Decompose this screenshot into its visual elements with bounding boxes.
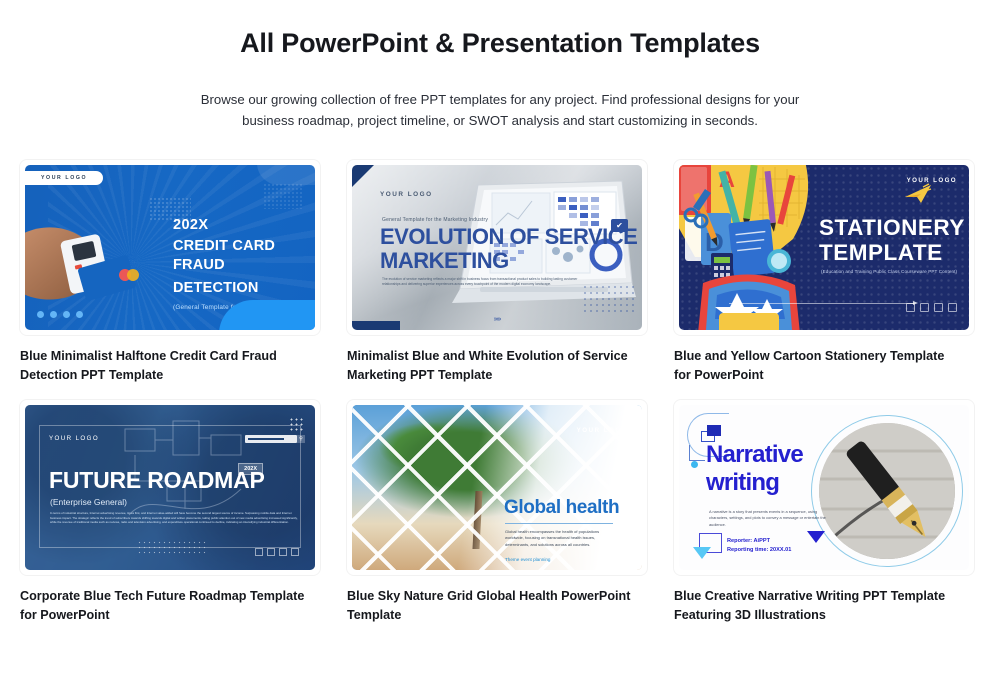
slide-heading-line1: EVOLUTION OF SERVICE [380, 225, 637, 249]
dot-indicator [63, 311, 70, 318]
stationery-template-slide: A D [679, 165, 969, 330]
slide-body-text: Global health encompasses the health of … [505, 529, 609, 548]
slide-text-block: 202X CREDIT CARD FRAUD DETECTION (Genera… [173, 217, 315, 311]
dot-indicator [76, 311, 83, 318]
slide-heading: Narrative writing [706, 441, 803, 497]
slide-heading-line1: CREDIT CARD FRAUD [173, 237, 315, 275]
credit-card-fraud-slide: YOUR LOGO [25, 165, 315, 330]
slide-heading-line2: writing [706, 469, 803, 497]
dot-grid-bottom [137, 540, 207, 554]
square-icon [255, 548, 263, 556]
triangle-cyan-icon [693, 547, 711, 559]
slide-heading-line1: Narrative [706, 441, 803, 469]
chevron-row: ››››› [494, 316, 501, 323]
slide-dot-indicators [37, 311, 83, 318]
dot-indicator [37, 311, 44, 318]
your-logo-label: YOUR LOGO [907, 177, 957, 184]
dot-indicator [50, 311, 57, 318]
square-icon [920, 303, 929, 312]
fountain-pen-image [819, 423, 955, 559]
your-logo-label: YOUR LOGO [49, 435, 99, 442]
slide-heading: EVOLUTION OF SERVICE MARKETING [380, 225, 637, 273]
template-card-title[interactable]: Blue Creative Narrative Writing PPT Temp… [674, 587, 959, 624]
template-card[interactable]: YOUR LOGO General Template for the Marke… [347, 160, 647, 384]
template-card[interactable]: YOUR LOGO [20, 160, 320, 384]
slide-heading-line2: TEMPLATE [819, 240, 965, 265]
template-card[interactable]: A D [674, 160, 974, 384]
slide-square-icons [255, 548, 299, 556]
school-supplies-illustration: A D [679, 165, 827, 330]
your-logo-label: YOUR LOGO [380, 191, 433, 198]
square-icon [279, 548, 287, 556]
slide-heading-line2: DETECTION [173, 279, 315, 298]
angle-decoration [689, 445, 705, 461]
square-icon [934, 303, 943, 312]
slide-heading: FUTURE ROADMAP [49, 467, 265, 494]
template-card-title[interactable]: Corporate Blue Tech Future Roadmap Templ… [20, 587, 305, 624]
template-thumbnail[interactable]: YOUR LOGO General Template for the Marke… [347, 160, 647, 335]
halftone-dots-corner [263, 183, 303, 209]
future-roadmap-slide: YOUR LOGO ⚲ 202X FUTURE ROADMAP (Enterpr… [25, 405, 315, 570]
slide-square-icons [906, 303, 957, 312]
square-icon [906, 303, 915, 312]
search-icon[interactable]: ⚲ [297, 435, 305, 443]
template-card[interactable]: Narrative writing A narrative is a story… [674, 400, 974, 624]
slide-heading-line1: STATIONERY [819, 215, 965, 240]
slide-reporter-block: Reporter: AiPPT Reporting time: 20XX.01 [727, 537, 791, 555]
template-card-title[interactable]: Blue Minimalist Halftone Credit Card Fra… [20, 347, 305, 384]
hand-pos-terminal-image [25, 199, 151, 319]
dot-grid-pattern [289, 417, 305, 431]
slide-body-text: A narrative is a story that presents eve… [709, 509, 827, 528]
template-card-title[interactable]: Minimalist Blue and White Evolution of S… [347, 347, 632, 384]
slide-subtitle: (Education and Training Public Class Cou… [821, 269, 957, 274]
template-card[interactable]: YOUR LOGO Global health Global health en… [347, 400, 647, 624]
reporting-time: Reporting time: 20XX.01 [727, 546, 791, 555]
square-icon [291, 548, 299, 556]
page-title: All PowerPoint & Presentation Templates [0, 0, 1000, 59]
templates-gallery-page: All PowerPoint & Presentation Templates … [0, 0, 1000, 700]
slide-heading: Global health [504, 497, 619, 519]
template-thumbnail[interactable]: YOUR LOGO Global health Global health en… [347, 400, 647, 575]
reporter-name: Reporter: AiPPT [727, 537, 791, 546]
check-icon: ✔ [611, 219, 628, 232]
square-decoration [707, 425, 721, 436]
slide-body-text: In terms of industrial structure, Intern… [50, 511, 300, 525]
triangle-indigo-icon [807, 531, 825, 543]
template-thumbnail[interactable]: YOUR LOGO ⚲ 202X FUTURE ROADMAP (Enterpr… [20, 400, 320, 575]
slide-year: 202X [173, 217, 315, 233]
square-icon [267, 548, 275, 556]
evolution-service-marketing-slide: YOUR LOGO General Template for the Marke… [352, 165, 642, 330]
paper-plane-icon [903, 183, 933, 205]
dot-decoration [691, 461, 698, 468]
your-logo-label: YOUR LOGO [577, 427, 628, 434]
slide-body-text: The evolution of service marketing refle… [382, 277, 594, 287]
square-icon [948, 303, 957, 312]
template-thumbnail[interactable]: A D [674, 160, 974, 335]
pen-illustration [819, 423, 955, 559]
template-thumbnail[interactable]: Narrative writing A narrative is a story… [674, 400, 974, 575]
heading-underline [505, 523, 613, 524]
narrative-writing-slide: Narrative writing A narrative is a story… [679, 405, 969, 570]
dot-grid-pattern [582, 284, 634, 316]
corner-bar [352, 321, 400, 330]
template-card-grid: YOUR LOGO [20, 160, 980, 624]
your-logo-badge: YOUR LOGO [25, 171, 103, 185]
search-input[interactable] [245, 435, 297, 443]
template-card[interactable]: YOUR LOGO ⚲ 202X FUTURE ROADMAP (Enterpr… [20, 400, 320, 624]
slide-link-text: Theme event planning [505, 557, 550, 562]
page-subtitle: Browse our growing collection of free PP… [200, 89, 800, 131]
global-health-slide: YOUR LOGO Global health Global health en… [352, 405, 642, 570]
template-card-title[interactable]: Blue Sky Nature Grid Global Health Power… [347, 587, 632, 624]
slide-heading: STATIONERY TEMPLATE [819, 215, 965, 265]
slide-heading-line2: MARKETING [380, 249, 637, 273]
arrow-divider [729, 303, 914, 304]
slide-subtitle: (Enterprise General) [50, 497, 127, 507]
template-card-title[interactable]: Blue and Yellow Cartoon Stationery Templ… [674, 347, 959, 384]
template-thumbnail[interactable]: YOUR LOGO [20, 160, 320, 335]
slide-tagline: General Template for the Marketing Indus… [382, 217, 488, 223]
